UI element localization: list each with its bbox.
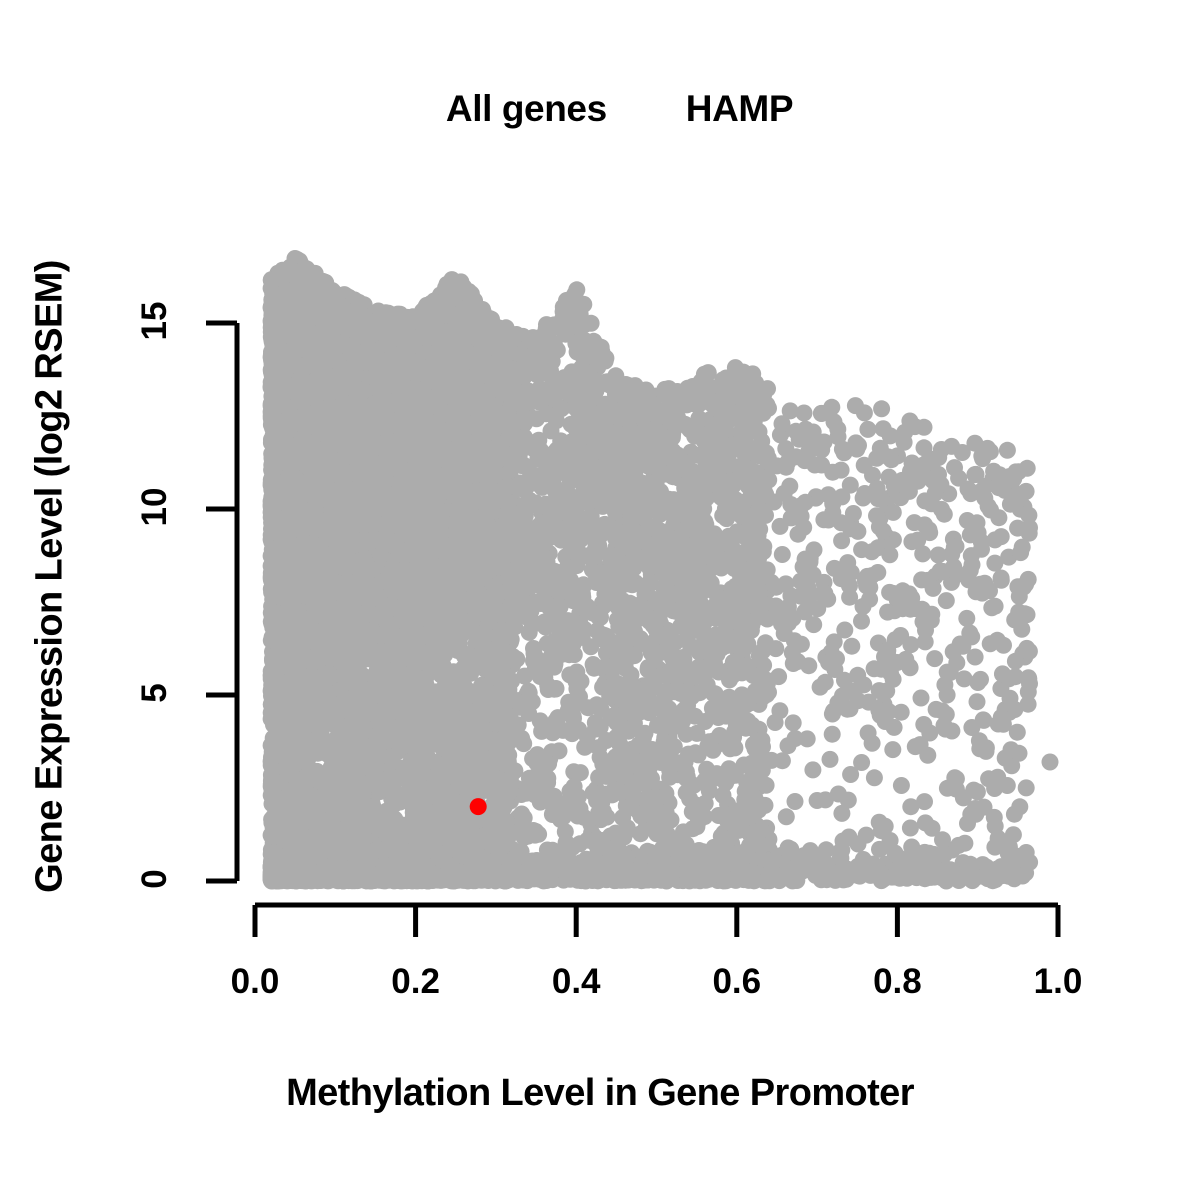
x-axis-label: Methylation Level in Gene Promoter	[0, 1072, 1200, 1115]
x-tick-label: 0.6	[697, 962, 777, 1002]
y-tick-label: 15	[135, 291, 175, 351]
x-tick-label: 0.0	[215, 962, 295, 1002]
data-points-layer	[263, 250, 1059, 890]
x-tick-label: 0.8	[857, 962, 937, 1002]
x-tick-label: 1.0	[1018, 962, 1098, 1002]
x-axis-ticks	[255, 905, 1058, 937]
y-axis-label: Gene Expression Level (log2 RSEM)	[29, 157, 72, 997]
y-tick-label: 10	[135, 477, 175, 537]
x-tick-label: 0.2	[376, 962, 456, 1002]
highlight-points-layer	[470, 798, 487, 815]
y-axis-ticks	[206, 323, 237, 881]
scatter-plot-figure: All genes HAMP Gene Expression Level (lo…	[0, 0, 1200, 1200]
plot-canvas	[0, 0, 1200, 1200]
hamp-data-point	[470, 798, 487, 815]
x-tick-label: 0.4	[536, 962, 616, 1002]
y-tick-label: 0	[135, 849, 175, 909]
y-tick-label: 5	[135, 663, 175, 723]
